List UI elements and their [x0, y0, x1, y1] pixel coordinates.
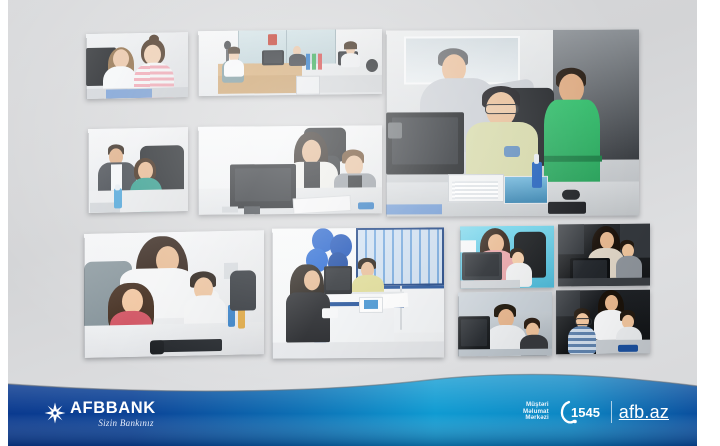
collage-photo-5: [386, 29, 639, 216]
tile-1-scene: [86, 32, 188, 99]
tile-10-scene: [458, 292, 552, 357]
brand-lockup: AFBBANK Sizin Bankınız: [44, 400, 156, 428]
brand-text-block: AFBBANK Sizin Bankınız: [70, 400, 156, 428]
brand-footer: AFBBANK Sizin Bankınız Müştəri Məlumat M…: [8, 372, 697, 446]
collage-photo-6: [84, 230, 264, 358]
collage-photo-8: [460, 226, 554, 289]
collage-photo-4: [198, 125, 382, 215]
tile-5-scene: [386, 29, 639, 216]
contact-number: 1545: [571, 405, 600, 420]
screenshot-root: AFBBANK Sizin Bankınız Müştəri Məlumat M…: [0, 0, 720, 446]
tile-11-scene: [556, 290, 650, 355]
collage-photo-3: [88, 127, 188, 213]
collage-photo-1: [86, 32, 188, 99]
tile-7-scene: [272, 227, 444, 358]
tile-6-scene: [84, 230, 264, 358]
collage-photo-7: [272, 227, 444, 358]
collage-photo-9: [558, 224, 650, 287]
tile-8-scene: [460, 226, 554, 289]
photo-collage: [8, 0, 697, 372]
contact-center-lockup: Müştəri Məlumat Mərkəzi 1545 afb.az: [523, 398, 669, 426]
brand-slogan: Sizin Bankınız: [98, 419, 153, 428]
lockup-divider: [611, 401, 612, 423]
contact-center-label: Müştəri Məlumat Mərkəzi: [523, 402, 549, 422]
tile-3-scene: [88, 127, 188, 213]
brand-name: AFBBANK: [70, 400, 156, 417]
contact-line-3: Mərkəzi: [525, 415, 548, 422]
collage-photo-11: [556, 290, 650, 355]
tile-2-scene: [198, 29, 382, 96]
collage-photo-2: [198, 29, 382, 96]
eight-point-star-icon: [44, 402, 66, 424]
collage-photo-10: [458, 292, 552, 357]
tile-9-scene: [558, 224, 650, 287]
tile-4-scene: [198, 125, 382, 215]
website-link[interactable]: afb.az: [619, 402, 669, 423]
phone-handset-icon: 1545: [556, 398, 604, 426]
